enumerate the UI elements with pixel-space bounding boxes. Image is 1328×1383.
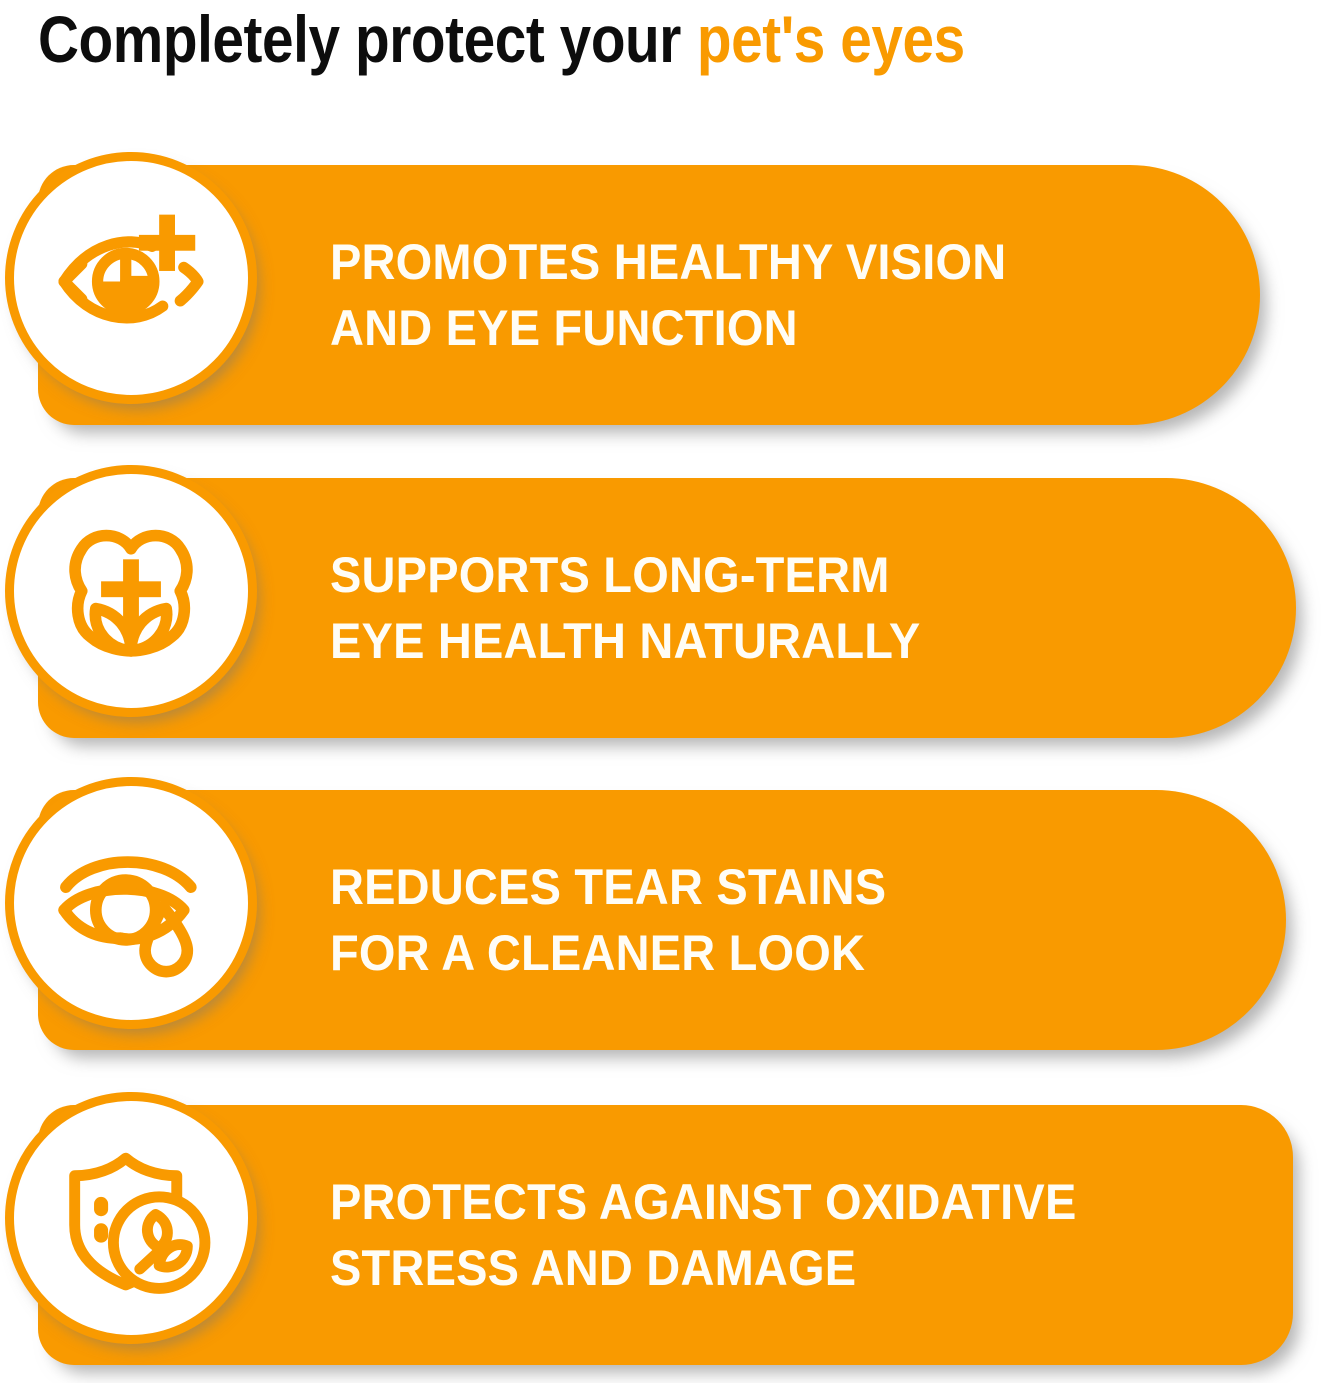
benefit-caption-line-1: SUPPORTS LONG-TERM (330, 542, 920, 608)
benefit-caption-line-2: AND EYE FUNCTION (330, 295, 1006, 361)
benefit-caption: PROTECTS AGAINST OXIDATIVE STRESS AND DA… (330, 1105, 1124, 1365)
benefit-caption-line-1: REDUCES TEAR STAINS (330, 854, 886, 920)
shield-leaf-icon (5, 1092, 257, 1344)
benefit-caption-line-1: PROMOTES HEALTHY VISION (330, 229, 1006, 295)
benefit-caption-line-2: EYE HEALTH NATURALLY (330, 608, 920, 674)
crying-eye-teardrop-icon (5, 777, 257, 1029)
eye-plus-icon (5, 152, 257, 404)
benefit-caption-line-2: FOR A CLEANER LOOK (330, 920, 886, 986)
benefit-caption: SUPPORTS LONG-TERM EYE HEALTH NATURALLY (330, 478, 958, 738)
benefit-caption: PROMOTES HEALTHY VISION AND EYE FUNCTION (330, 165, 1050, 425)
benefit-caption-line-2: STRESS AND DAMAGE (330, 1235, 1076, 1301)
heart-plus-leaf-icon (5, 465, 257, 717)
benefit-list: PROMOTES HEALTHY VISION AND EYE FUNCTION (0, 0, 1328, 1383)
benefit-caption-line-1: PROTECTS AGAINST OXIDATIVE (330, 1169, 1076, 1235)
benefit-caption: REDUCES TEAR STAINS FOR A CLEANER LOOK (330, 790, 922, 1050)
